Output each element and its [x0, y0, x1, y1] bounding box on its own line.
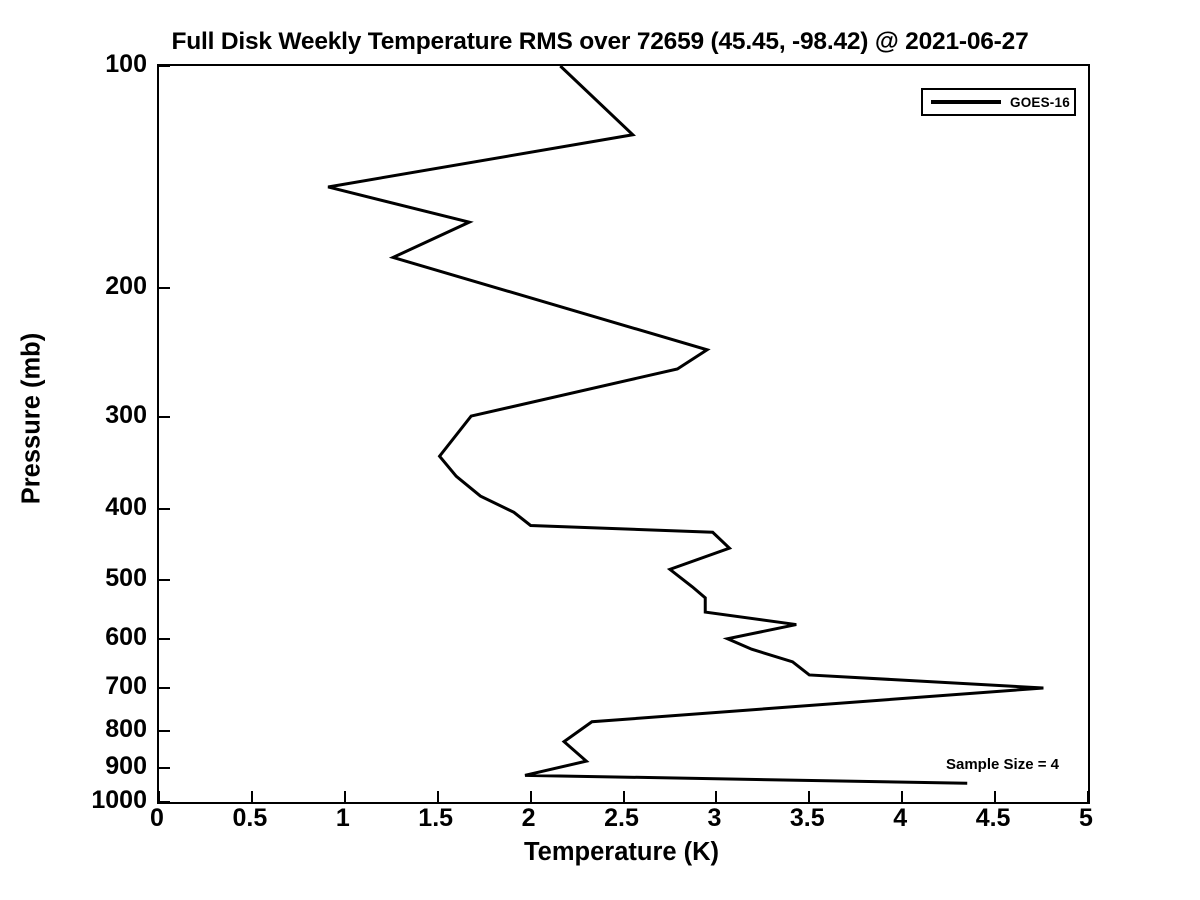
x-axis-title: Temperature (K) [157, 838, 1086, 867]
x-tick-label: 4 [860, 806, 940, 831]
data-line-svg [159, 66, 1088, 802]
y-tick-mark [158, 287, 170, 289]
x-tick-label: 0.5 [210, 806, 290, 831]
x-tick-mark [994, 791, 996, 803]
y-tick-mark [158, 508, 170, 510]
x-tick-mark [251, 791, 253, 803]
x-tick-mark [437, 791, 439, 803]
y-tick-label: 100 [17, 52, 147, 77]
y-tick-mark [158, 687, 170, 689]
x-tick-mark [530, 791, 532, 803]
legend-line-swatch [931, 100, 1001, 104]
y-tick-mark [158, 416, 170, 418]
y-tick-label: 900 [17, 754, 147, 779]
y-tick-label: 800 [17, 717, 147, 742]
x-tick-mark [1087, 791, 1089, 803]
y-tick-mark [158, 579, 170, 581]
x-tick-label: 1 [303, 806, 383, 831]
chart-figure: Full Disk Weekly Temperature RMS over 72… [0, 0, 1200, 900]
legend-label-goes-16: GOES-16 [1010, 95, 1070, 110]
x-tick-mark [158, 791, 160, 803]
plot-area [157, 64, 1090, 804]
x-tick-label: 1.5 [396, 806, 476, 831]
x-tick-label: 5 [1046, 806, 1126, 831]
y-tick-label: 600 [17, 625, 147, 650]
x-tick-label: 4.5 [953, 806, 1033, 831]
x-tick-mark [715, 791, 717, 803]
x-tick-mark [623, 791, 625, 803]
y-tick-mark [158, 767, 170, 769]
y-tick-label: 700 [17, 674, 147, 699]
chart-title: Full Disk Weekly Temperature RMS over 72… [0, 28, 1200, 56]
x-tick-label: 2 [489, 806, 569, 831]
x-tick-label: 3.5 [767, 806, 847, 831]
x-tick-mark [808, 791, 810, 803]
series-line-goes-16 [328, 66, 1043, 783]
y-tick-label: 500 [17, 566, 147, 591]
y-tick-mark [158, 638, 170, 640]
sample-size-annotation: Sample Size = 4 [946, 756, 1059, 773]
y-tick-mark [158, 65, 170, 67]
x-tick-mark [901, 791, 903, 803]
x-tick-label: 3 [674, 806, 754, 831]
legend[interactable]: GOES-16 [921, 88, 1076, 116]
x-tick-mark [344, 791, 346, 803]
x-tick-label: 2.5 [582, 806, 662, 831]
y-tick-mark [158, 730, 170, 732]
y-axis-title: Pressure (mb) [18, 269, 47, 569]
x-tick-label: 0 [117, 806, 197, 831]
